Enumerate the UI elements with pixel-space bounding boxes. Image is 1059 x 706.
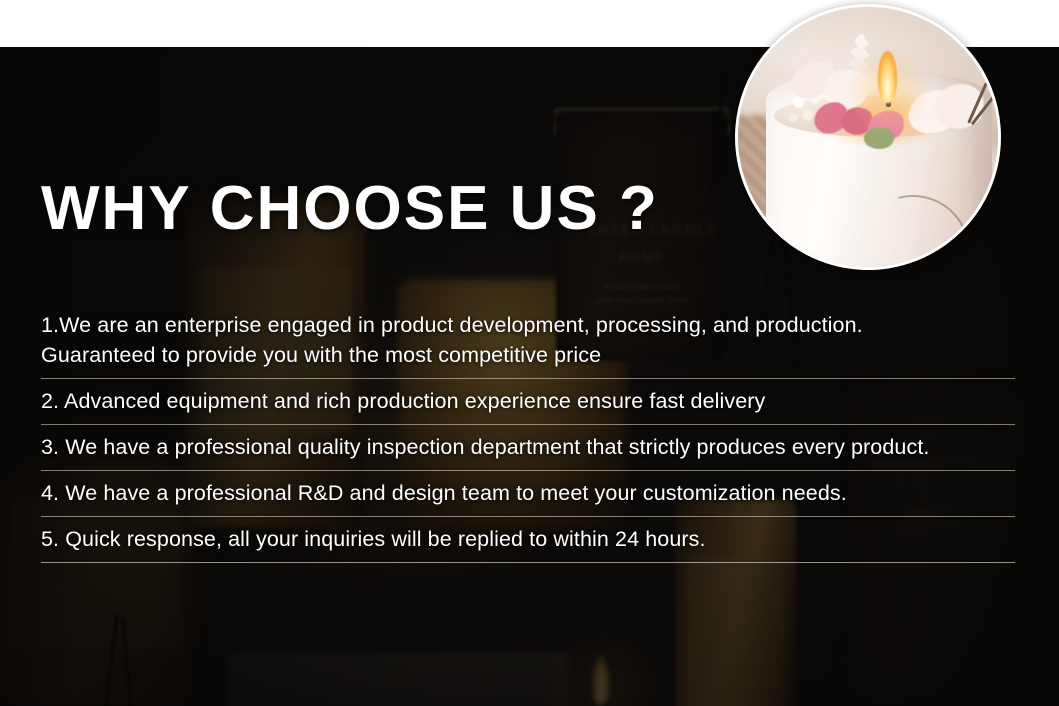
feature-item-3: 3. We have a professional quality inspec… [41, 425, 1019, 470]
feature-item-5: 5. Quick response, all your inquiries wi… [41, 517, 1019, 562]
page-title: WHY CHOOSE US ? [41, 172, 659, 246]
product-photo-circle: M CITTA CANDLE [735, 4, 1001, 270]
feature-divider-5 [41, 562, 1015, 563]
feature-item-4: 4. We have a professional R&D and design… [41, 471, 1019, 516]
why-choose-us-banner: CT CANDLE CO. NATURAL PLANT EXTRACTS GIV… [0, 0, 1059, 706]
feature-item-1: 1.We are an enterprise engaged in produc… [41, 303, 1019, 378]
product-photo-scene: M CITTA CANDLE [738, 7, 998, 267]
feature-list: 1.We are an enterprise engaged in produc… [41, 303, 1019, 563]
feature-item-2: 2. Advanced equipment and rich productio… [41, 379, 1019, 424]
candle-flame [878, 51, 897, 103]
